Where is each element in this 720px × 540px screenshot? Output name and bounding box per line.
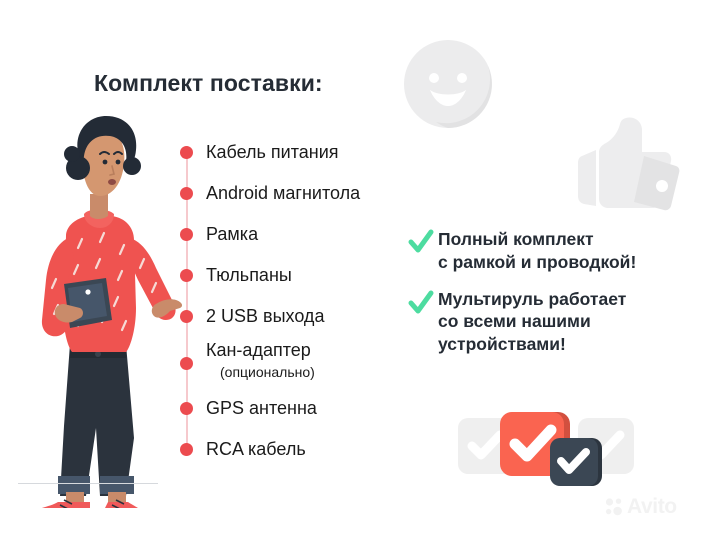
benefit-label: Полный комплект с рамкой и проводкой! bbox=[438, 228, 636, 274]
avito-logo-icon bbox=[604, 497, 624, 517]
bullet-dot bbox=[180, 269, 193, 282]
avito-wordmark: Avito bbox=[627, 496, 677, 517]
benefit-label: Мультируль работает со всеми нашими устр… bbox=[438, 288, 626, 356]
list-item-label: Кабель питания bbox=[206, 142, 339, 163]
bullet-dot bbox=[180, 146, 193, 159]
woman-pointing-illustration bbox=[8, 108, 188, 508]
list-item-label: Кан-адаптер bbox=[206, 340, 311, 361]
list-item-label: 2 USB выхода bbox=[206, 306, 324, 327]
list-item-label: Рамка bbox=[206, 224, 258, 245]
green-check-icon bbox=[408, 229, 434, 255]
check-card-icons bbox=[458, 404, 634, 496]
list-item-sublabel: (опционально) bbox=[220, 364, 315, 380]
spec-list: Кабель питания Android магнитола Рамка Т… bbox=[172, 130, 442, 466]
list-item-label: RCA кабель bbox=[206, 439, 306, 460]
green-check-icon bbox=[408, 290, 434, 316]
list-item-label: Тюльпаны bbox=[206, 265, 292, 286]
ground-line bbox=[18, 483, 158, 484]
list-item-label: Android магнитола bbox=[206, 183, 360, 204]
slide-canvas: Комплект поставки: Кабель питания Androi… bbox=[0, 0, 720, 540]
benefits-list: Полный комплект с рамкой и проводкой! Му… bbox=[408, 228, 708, 370]
bullet-dot bbox=[180, 443, 193, 456]
benefit-item: Полный комплект с рамкой и проводкой! bbox=[408, 228, 708, 274]
bullet-dot bbox=[180, 357, 193, 370]
thumbs-up-icon bbox=[568, 112, 688, 220]
list-item-label: GPS антенна bbox=[206, 398, 317, 419]
bullet-dot bbox=[180, 228, 193, 241]
benefit-item: Мультируль работает со всеми нашими устр… bbox=[408, 288, 708, 356]
avito-watermark: Avito bbox=[604, 496, 677, 517]
page-title: Комплект поставки: bbox=[94, 70, 323, 97]
bullet-dot bbox=[180, 402, 193, 415]
bullet-dot bbox=[180, 187, 193, 200]
bullet-dot bbox=[180, 310, 193, 323]
smiley-face-icon bbox=[402, 38, 494, 130]
